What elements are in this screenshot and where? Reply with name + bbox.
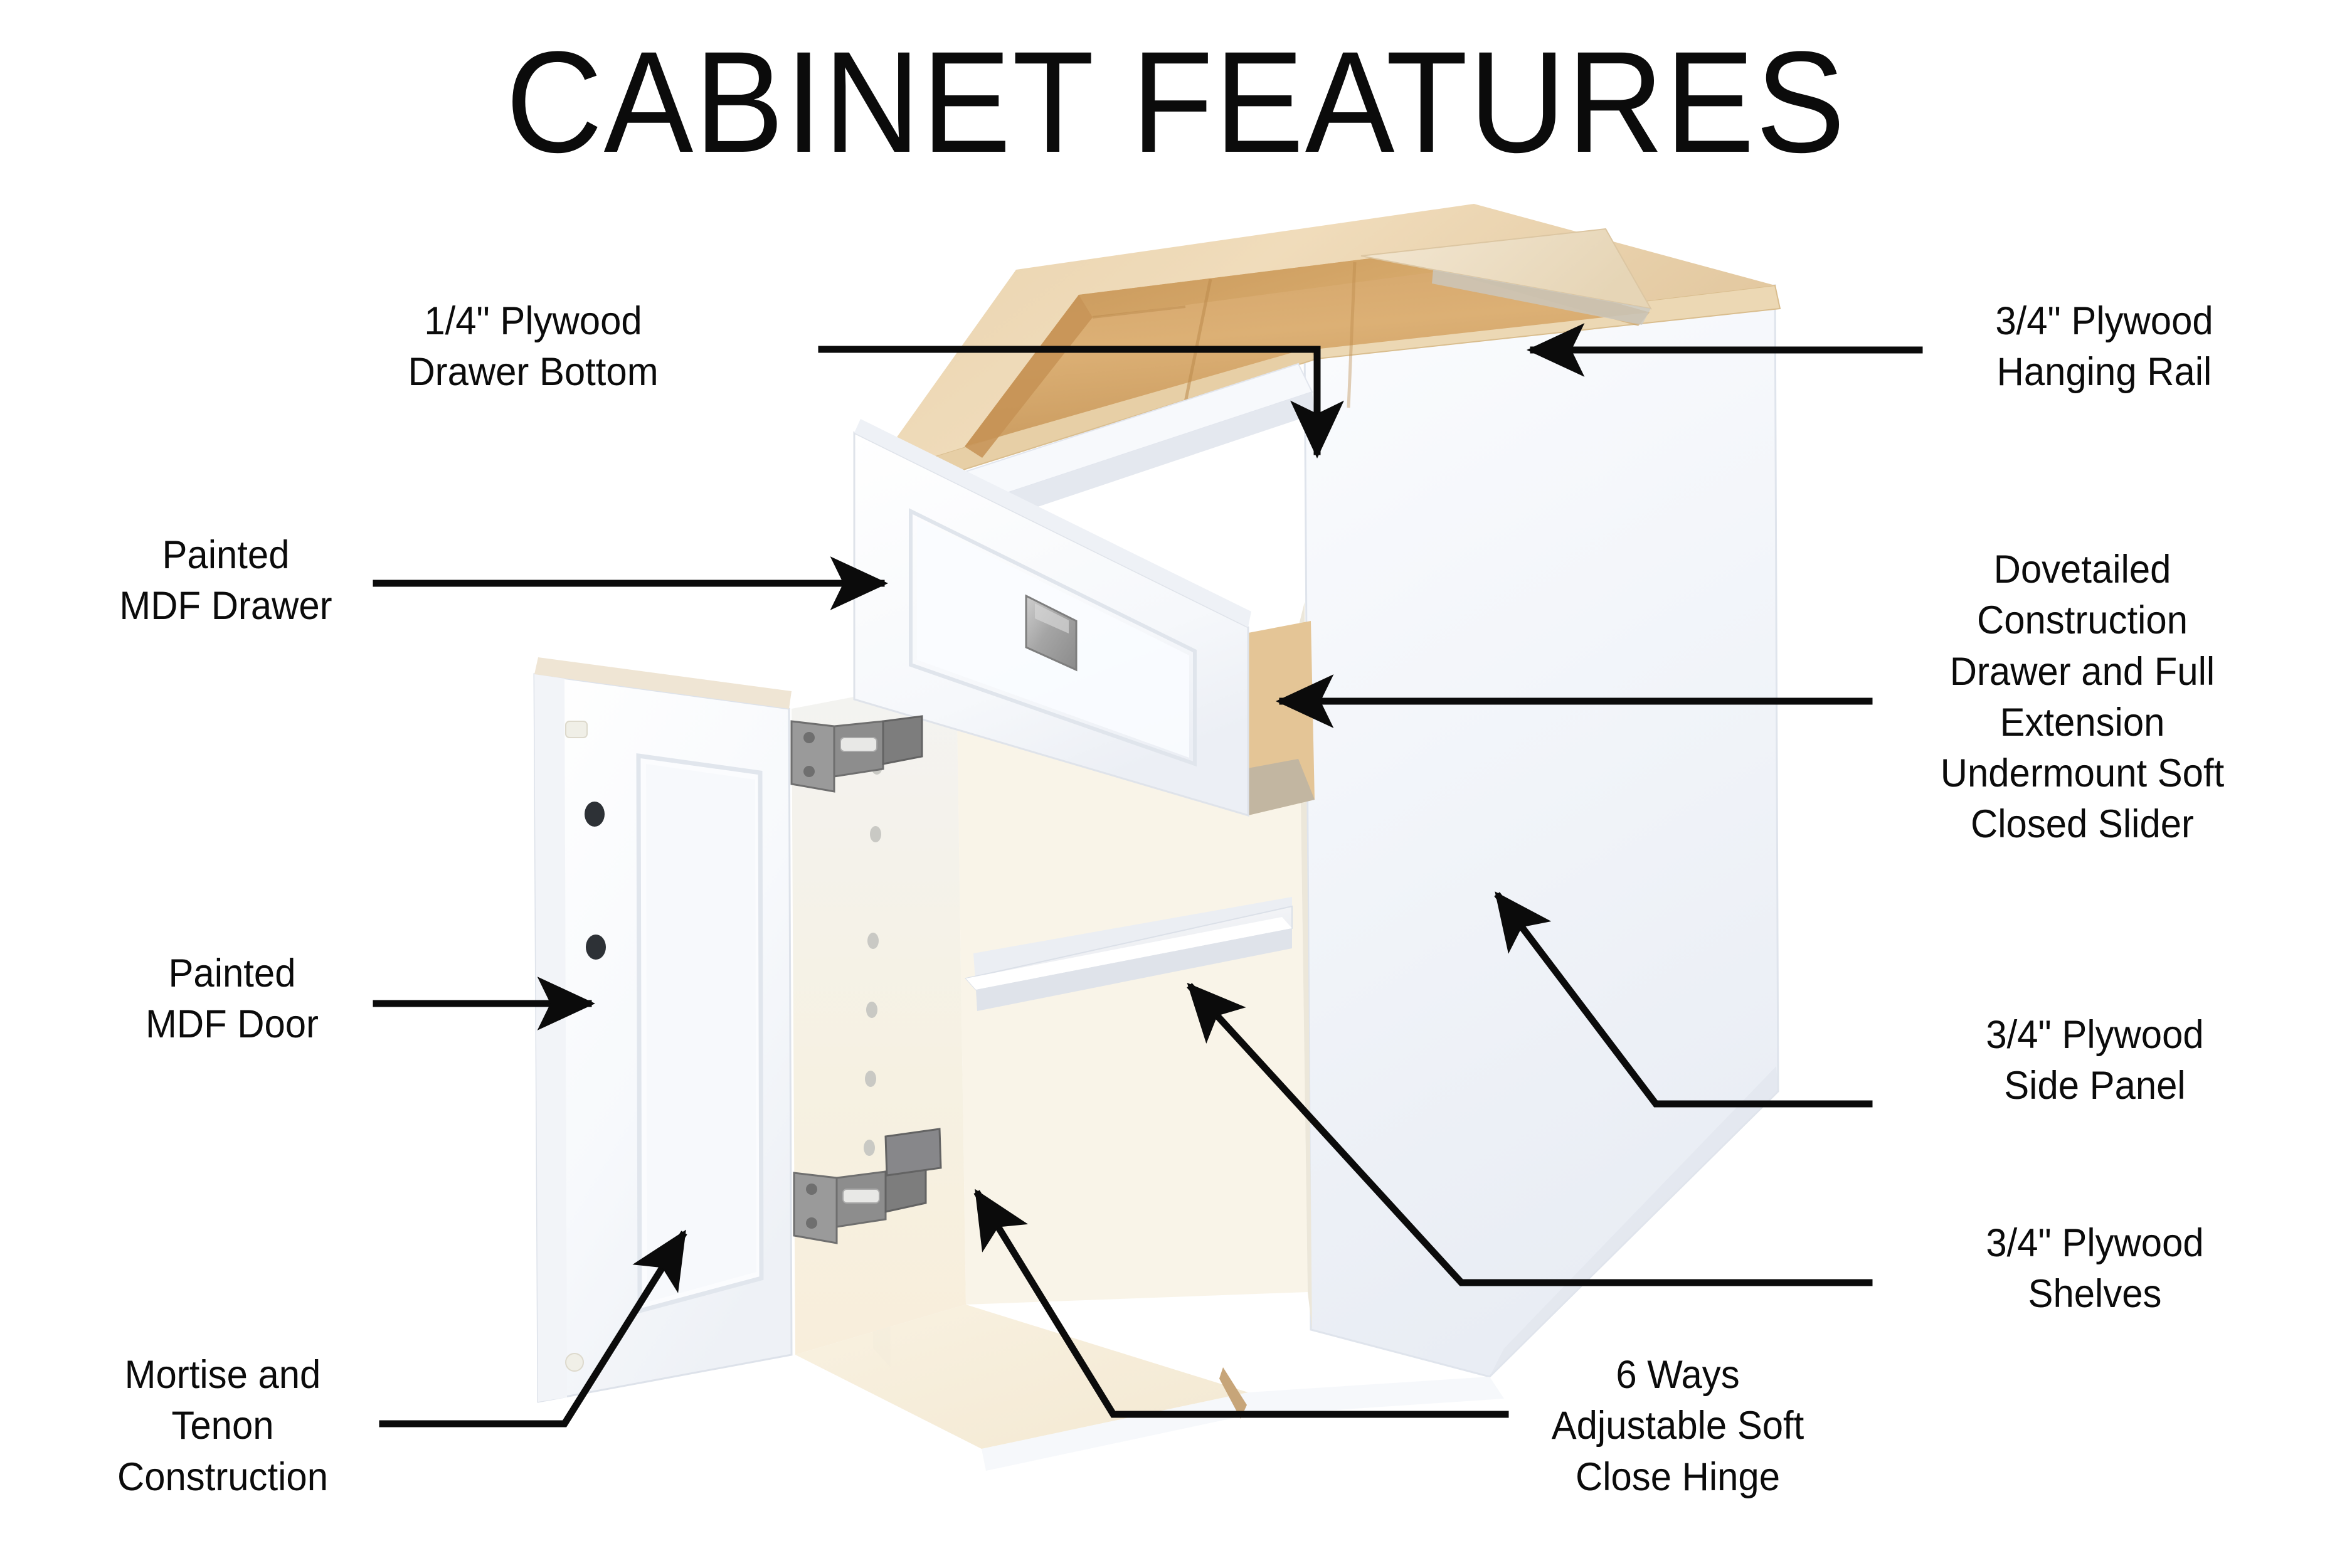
hinge-cup-recess [585,802,605,827]
label-plywood-hanging-rail: 3/4" Plywood Hanging Rail [1926,296,2283,398]
door-bumper-pad [566,721,587,738]
door-left-stile [534,674,567,1402]
label-painted-mdf-drawer: Painted MDF Drawer [71,530,381,632]
label-dovetailed-construction-slider: Dovetailed Construction Drawer and Full … [1868,544,2297,850]
label-mortise-tenon-construction: Mortise and Tenon Construction [65,1350,381,1503]
label-plywood-drawer-bottom: 1/4" Plywood Drawer Bottom [361,296,706,398]
label-plywood-side-panel: 3/4" Plywood Side Panel [1910,1010,2280,1112]
door-panel-inner-shadow [646,764,756,1302]
label-painted-mdf-door: Painted MDF Door [77,948,387,1051]
right-side-panel [1305,285,1778,1377]
hinge-cup-recess [586,935,606,960]
label-adjustable-soft-close-hinge: 6 Ways Adjustable Soft Close Hinge [1487,1350,1868,1503]
label-plywood-shelves: 3/4" Plywood Shelves [1910,1218,2280,1320]
door-bumper-pad [566,1353,583,1371]
infographic-canvas: CABINET FEATURES [0,0,2352,1568]
